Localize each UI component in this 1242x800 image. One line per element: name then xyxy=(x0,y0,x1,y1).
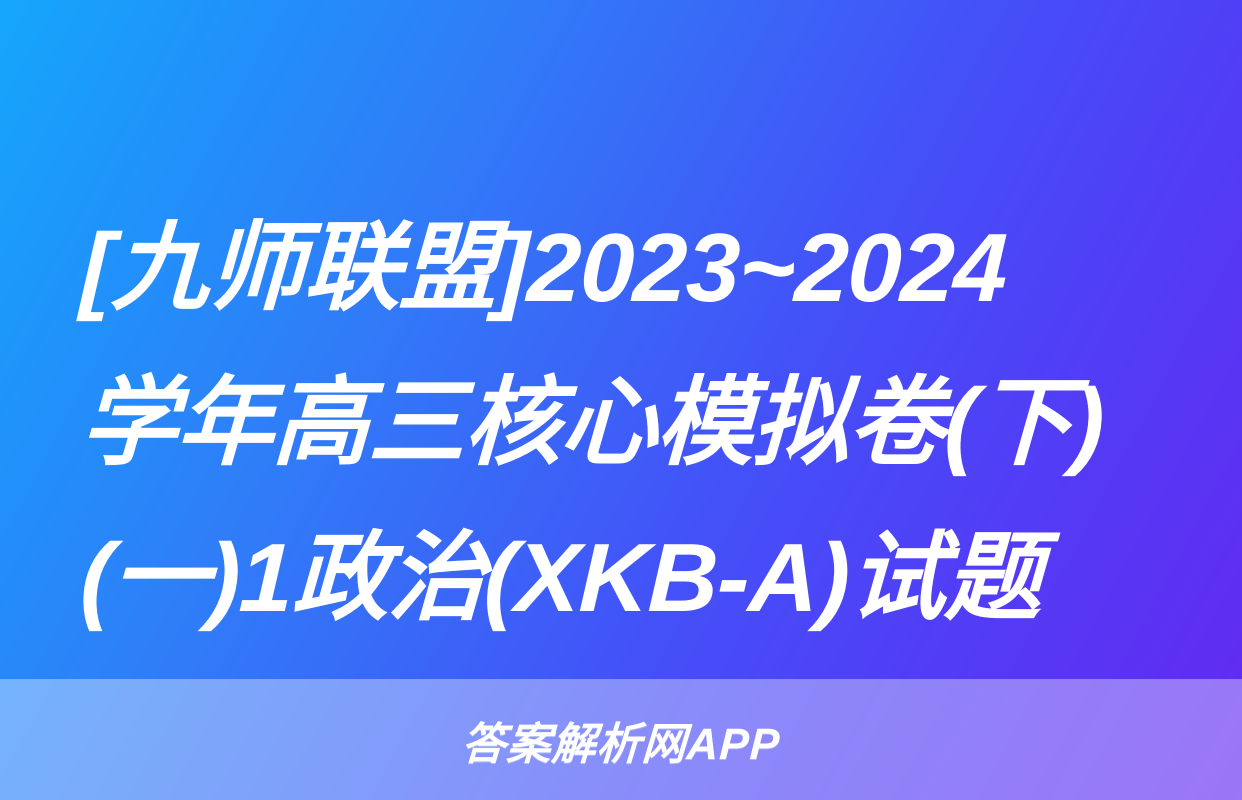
footer-watermark-band: 答案解析网APP xyxy=(0,679,1242,800)
footer-watermark-text: 答案解析网APP xyxy=(460,708,782,772)
title-line-1: [九师联盟]2023~2024 xyxy=(78,190,1169,345)
title-line-2: 学年高三核心模拟卷(下) xyxy=(78,345,1169,500)
page-title: [九师联盟]2023~2024 学年高三核心模拟卷(下) (一)1政治(XKB-… xyxy=(78,190,1164,655)
exam-cover-card: [九师联盟]2023~2024 学年高三核心模拟卷(下) (一)1政治(XKB-… xyxy=(0,0,1242,800)
title-line-3: (一)1政治(XKB-A)试题 xyxy=(78,500,1169,655)
